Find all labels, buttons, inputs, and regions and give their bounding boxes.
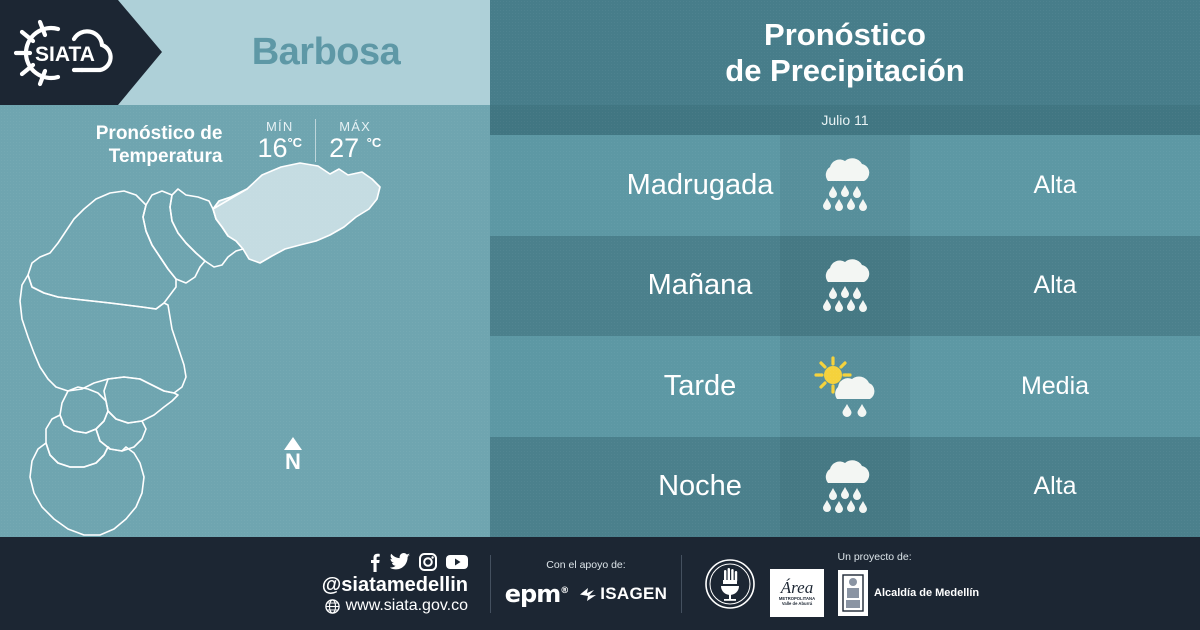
footer-support-block: Con el apoyo de: epm® ISAGEN [491,559,681,608]
forecast-row[interactable]: Mañana [490,236,1200,337]
rain-cloud-icon [780,135,910,236]
sun-cloud-icon: SIATA [8,17,126,89]
twitter-icon[interactable] [390,553,410,571]
cloud-part [835,377,874,417]
forecast-period-label: Tarde [664,370,737,403]
infographic-canvas: SIATA Barbosa Pronóstico de Temperatura … [0,0,1200,630]
forecast-title-line1: Pronóstico [764,17,926,52]
forecast-row[interactable]: Tarde [490,336,1200,437]
temperature-max-label: MÁX [339,119,371,134]
forecast-probability-label: Media [1021,372,1089,401]
compass-north: N [277,437,309,473]
footer: @siatamedellin www.siata.gov.co Con el a… [0,537,1200,630]
amva-sub2: Valle de Aburrá [782,601,812,606]
forecast-period-label: Noche [658,470,742,503]
youtube-icon[interactable] [446,554,468,570]
city-header: SIATA Barbosa [0,0,490,105]
support-logos: epm® ISAGEN [505,580,667,608]
municipality-caldas [30,443,144,535]
forecast-panel: Pronóstico de Precipitación Julio 11 Mad… [490,0,1200,537]
forecast-probability-label: Alta [1033,171,1076,200]
isagen-logo: ISAGEN [580,584,667,604]
epm-logo: epm® [505,580,568,608]
forecast-probability: Media [910,336,1200,437]
forecast-date-band: Julio 11 [490,105,1200,135]
project-inner: Un proyecto de: Área METROPOLITANA Valle… [770,551,979,617]
alcaldia-medellin-logo: Alcaldía de Medellín [838,570,979,616]
footer-project-block: Un proyecto de: Área METROPOLITANA Valle… [682,551,1200,617]
globe-icon [325,599,340,614]
social-handle[interactable]: @siatamedellin [322,574,468,597]
project-caption: Un proyecto de: [838,551,912,563]
forecast-date: Julio 11 [821,112,868,128]
siata-logo-text: SIATA [35,43,95,66]
municipality-envigado [104,377,178,423]
municipality-barbosa [213,163,380,263]
support-caption: Con el apoyo de: [546,559,625,571]
website-row[interactable]: www.siata.gov.co [325,597,468,615]
compass-label: N [277,451,309,473]
social-icon-row [369,552,468,572]
forecast-row[interactable]: Noche [490,437,1200,538]
footer-social-block: @siatamedellin www.siata.gov.co [0,552,490,615]
temperature-values: MÍN 16°C MÁX 27 °C [244,119,394,162]
aburra-valley-map [0,157,490,537]
project-logos: Área METROPOLITANA Valle de Aburrá [770,569,979,617]
forecast-probability: Alta [910,135,1200,236]
left-panel: SIATA Barbosa Pronóstico de Temperatura … [0,0,490,537]
temperature-title-line1: Pronóstico de [96,122,223,145]
municipality-medellin [20,275,186,393]
forecast-probability: Alta [910,236,1200,337]
area-metropolitana-logo: Área METROPOLITANA Valle de Aburrá [770,569,824,617]
isagen-mark-icon [580,587,597,602]
municipality-copacabana [143,191,205,283]
udea-seal [704,558,756,610]
sun-cloud-rain-icon [780,336,910,437]
siata-logo-banner: SIATA [0,0,162,105]
municipality-sabaneta [96,411,146,451]
municipality-bello [28,191,176,309]
city-name: Barbosa [162,0,490,105]
temperature-min-label: MÍN [266,119,293,134]
website-url: www.siata.gov.co [346,597,468,615]
rain-cloud-icon [780,437,910,538]
forecast-title-line2: de Precipitación [725,53,964,88]
facebook-icon[interactable] [369,552,381,572]
forecast-probability-label: Alta [1033,271,1076,300]
amva-script: Área [781,579,813,596]
forecast-period-label: Mañana [648,269,753,302]
forecast-probability-label: Alta [1033,472,1076,501]
instagram-icon[interactable] [419,553,437,571]
forecast-header: Pronóstico de Precipitación [490,0,1200,105]
forecast-period-label: Madrugada [627,169,774,202]
forecast-probability: Alta [910,437,1200,538]
temperature-max: MÁX 27 °C [316,119,394,162]
alcaldia-crest-icon [838,570,868,616]
rain-cloud-icon [780,236,910,337]
forecast-rows: Madrugada [490,135,1200,537]
temperature-min: MÍN 16°C [244,119,316,162]
map-panel: Pronóstico de Temperatura MÍN 16°C MÁX 2… [0,105,490,537]
forecast-row[interactable]: Madrugada [490,135,1200,236]
alcaldia-label: Alcaldía de Medellín [874,587,979,599]
